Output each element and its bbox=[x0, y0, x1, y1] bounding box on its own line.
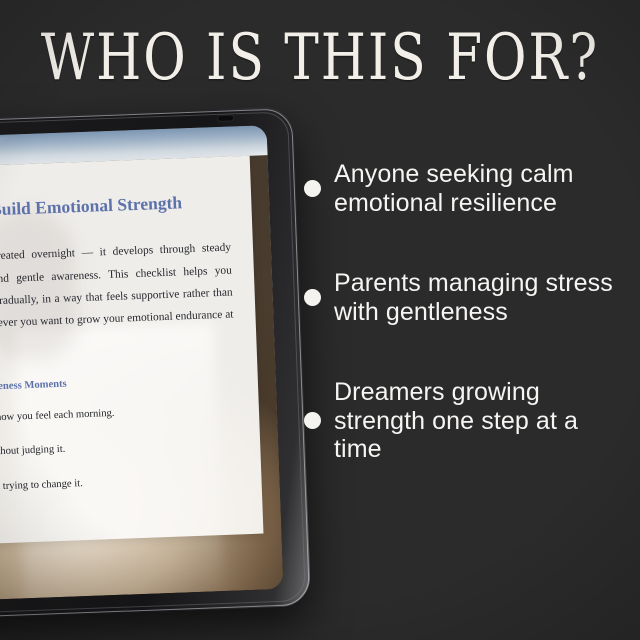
document-checklist: Take a minute to notice how you feel eac… bbox=[0, 399, 240, 500]
audience-item-label: Anyone seeking calm emotional resilience bbox=[334, 160, 630, 217]
list-item[interactable]: Take a minute to notice how you feel eac… bbox=[0, 399, 237, 432]
tablet-screen[interactable]: The Slow-Build Emotional Strength Emotio… bbox=[0, 125, 284, 605]
list-item[interactable]: Allow it to exist without trying to chan… bbox=[0, 468, 240, 501]
document-section-heading: Start With Small Self-Awareness Moments bbox=[0, 373, 236, 397]
audience-bullet-list: Anyone seeking calm emotional resilience… bbox=[300, 160, 630, 464]
document-title: The Slow-Build Emotional Strength bbox=[0, 187, 230, 229]
page-title: WHO IS THIS FOR? bbox=[13, 26, 627, 90]
audience-item-label: Parents managing stress with gentleness bbox=[334, 269, 630, 326]
document-card[interactable]: The Slow-Build Emotional Strength Emotio… bbox=[0, 156, 263, 549]
list-item: Anyone seeking calm emotional resilience bbox=[300, 160, 630, 217]
audience-item-label: Dreamers growing strength one step at a … bbox=[334, 378, 630, 464]
document-intro-paragraph: Emotional strength isn't created overnig… bbox=[0, 237, 235, 362]
tablet-device-mockup: The Slow-Build Emotional Strength Emotio… bbox=[0, 106, 311, 623]
bullet-dot-icon bbox=[304, 180, 321, 197]
slide-canvas: { "slide": { "title": "WHO IS THIS FOR?"… bbox=[0, 0, 640, 640]
list-item[interactable]: Identify one emotion without judging it. bbox=[0, 434, 239, 467]
front-camera-icon bbox=[218, 115, 233, 121]
bullet-dot-icon bbox=[304, 289, 321, 306]
bullet-dot-icon bbox=[304, 412, 321, 429]
list-item: Parents managing stress with gentleness bbox=[300, 269, 630, 326]
list-item: Dreamers growing strength one step at a … bbox=[300, 378, 630, 464]
